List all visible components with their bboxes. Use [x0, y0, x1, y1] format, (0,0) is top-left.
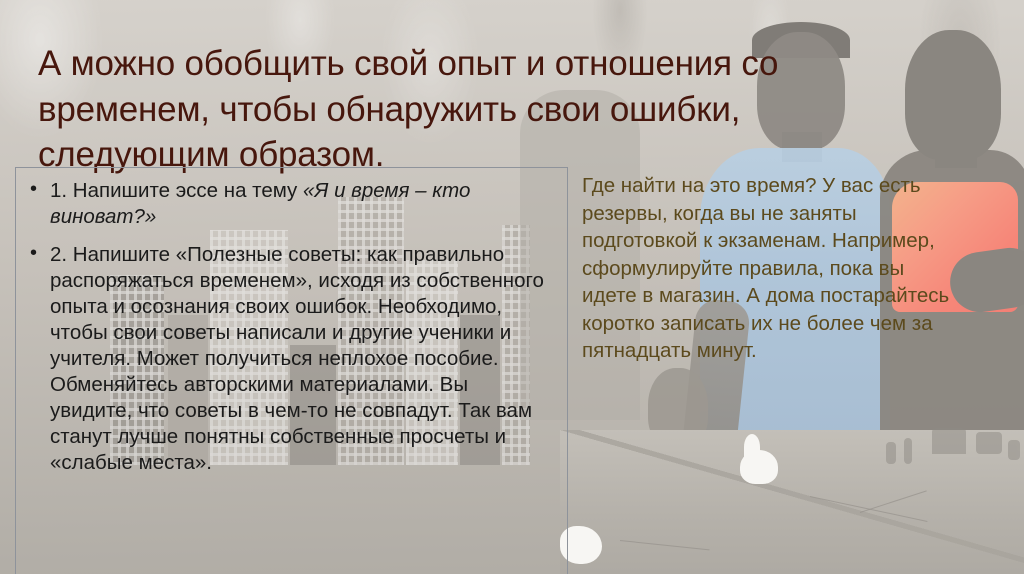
background-silhouette-child-body — [614, 438, 744, 548]
list-item: 2. Напишите «Полезные советы: как правил… — [24, 242, 555, 476]
background-silhouette-pink-neck — [935, 140, 977, 168]
background-ground-plane — [560, 430, 1024, 574]
list-item: 1. Напишите эссе на тему «Я и время – кт… — [24, 178, 555, 230]
background-silhouette-child-head — [648, 368, 708, 448]
presentation-slide: А можно обобщить свой опыт и отношения с… — [0, 0, 1024, 574]
slide-title: А можно обобщить свой опыт и отношения с… — [38, 41, 918, 178]
right-text-column: Где найти на это время? У вас есть резер… — [582, 172, 964, 365]
bullet-1-lead: 1. Напишите эссе на тему — [50, 179, 303, 202]
bullet-2-lead: 2. Напишите «Полезные советы: как правил… — [50, 243, 544, 474]
background-distant-figures — [880, 428, 1024, 472]
left-content-panel: 1. Напишите эссе на тему «Я и время – кт… — [15, 167, 568, 574]
background-silhouette-pink-head — [905, 30, 1001, 160]
bullet-list: 1. Напишите эссе на тему «Я и время – кт… — [24, 178, 555, 476]
